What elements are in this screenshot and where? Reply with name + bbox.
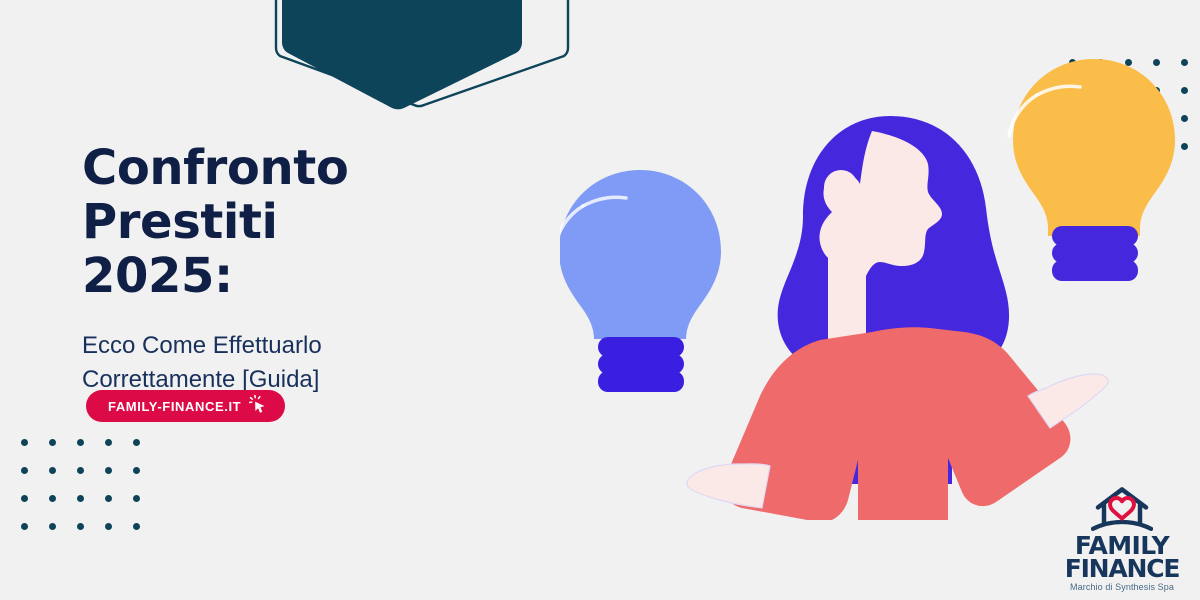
hero-illustration: [560, 40, 1200, 520]
page-title: Confronto Prestiti 2025:: [82, 142, 552, 303]
page-subtitle: Ecco Come Effettuarlo Correttamente [Gui…: [82, 329, 552, 397]
site-badge[interactable]: FAMILY-FINANCE.IT: [86, 390, 285, 422]
headline-block: Confronto Prestiti 2025: Ecco Come Effet…: [82, 142, 552, 397]
dot-grid-bottom-left: [21, 439, 166, 559]
site-badge-label: FAMILY-FINANCE.IT: [108, 399, 241, 414]
brand-logo: FAMILY FINANCE Marchio di Synthesis Spa: [1058, 486, 1186, 593]
logo-word-line-2: FINANCE: [1058, 557, 1186, 580]
logo-tagline: Marchio di Synthesis Spa: [1058, 582, 1186, 592]
shield-banner-solid: [282, 0, 522, 109]
headline-line-2: 2025:: [82, 250, 552, 304]
logo-wordmark: FAMILY FINANCE: [1058, 534, 1186, 581]
cursor-click-icon: [249, 395, 269, 415]
headline-line-1: Confronto Prestiti: [82, 142, 552, 250]
subheadline-line-1: Ecco Come Effettuarlo: [82, 329, 552, 363]
person-left-hand: [687, 464, 770, 508]
lightbulb-yellow-icon: [1009, 59, 1175, 281]
lightbulb-blue-icon: [560, 170, 721, 392]
poster-canvas: Confronto Prestiti 2025: Ecco Come Effet…: [0, 0, 1200, 600]
house-with-heart-icon: [1091, 486, 1153, 534]
person-sweater: [724, 327, 1071, 520]
